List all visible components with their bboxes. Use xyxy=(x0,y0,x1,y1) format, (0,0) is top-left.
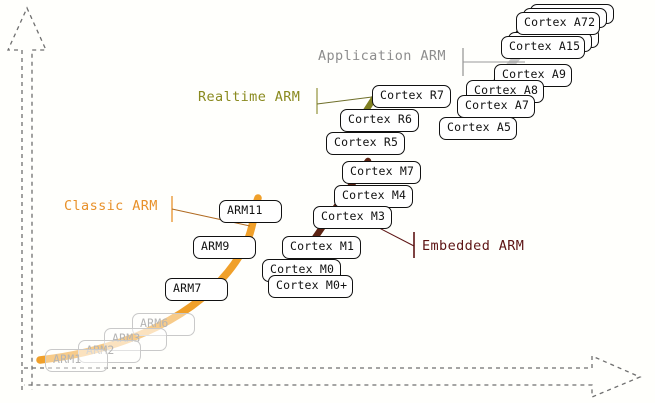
processor-node[interactable]: ARM9 xyxy=(193,236,256,259)
processor-node[interactable]: Cortex M7 xyxy=(342,161,421,184)
processor-node[interactable]: Cortex R5 xyxy=(326,132,405,155)
diagram-canvas: Application ARM Realtime ARM Classic ARM… xyxy=(0,0,655,403)
processor-node[interactable]: Cortex M1 xyxy=(282,236,361,259)
processor-node[interactable]: Cortex A15 xyxy=(501,36,585,59)
processor-node[interactable]: ARM11 xyxy=(219,200,282,223)
group-label-embedded: Embedded ARM xyxy=(422,240,524,254)
processor-node[interactable]: Cortex M3 xyxy=(313,206,392,229)
processor-node[interactable]: Cortex M4 xyxy=(334,185,413,208)
processor-node[interactable]: Cortex A5 xyxy=(439,117,517,140)
processor-node[interactable]: Cortex R6 xyxy=(340,109,419,132)
processor-node[interactable]: Cortex R7 xyxy=(372,85,451,108)
vertical-axis-arrow xyxy=(8,8,46,390)
group-label-realtime: Realtime ARM xyxy=(198,91,300,105)
group-label-application: Application ARM xyxy=(318,50,446,64)
processor-node[interactable]: Cortex A72 xyxy=(516,12,600,35)
processor-node[interactable]: ARM1 xyxy=(45,349,108,372)
group-label-classic: Classic ARM xyxy=(64,200,158,214)
processor-node[interactable]: Cortex A7 xyxy=(457,95,535,118)
processor-node[interactable]: ARM7 xyxy=(165,278,228,301)
processor-node[interactable]: Cortex M0+ xyxy=(268,275,353,298)
